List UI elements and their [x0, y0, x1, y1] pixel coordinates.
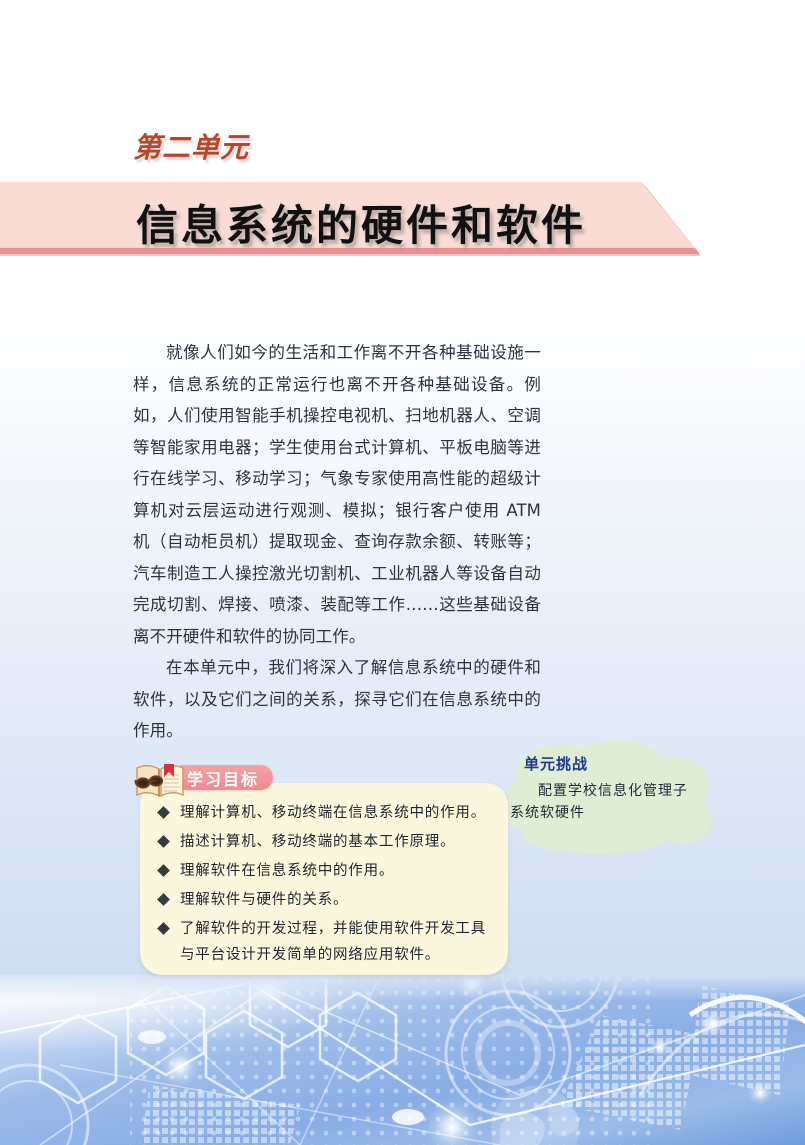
goal-item: 理解软件与硬件的关系。 — [158, 887, 494, 913]
goal-item: 了解软件的开发过程，并能使用软件开发工具与平台设计开发简单的网络应用软件。 — [158, 916, 494, 968]
learning-goals-card: 理解计算机、移动终端在信息系统中的作用。 描述计算机、移动终端的基本工作原理。 … — [140, 783, 508, 975]
unit-challenge-cloud: 单元挑战 配置学校信息化管理子系统软硬件 — [500, 740, 716, 858]
unit-challenge-title: 单元挑战 — [524, 753, 588, 774]
goal-item-label: 了解软件的开发过程，并能使用软件开发工具与平台设计开发简单的网络应用软件。 — [180, 921, 486, 963]
textbook-unit-page: 第二单元 信息系统的硬件和软件 就像人们如今的生活和工作离不开各种基础设施一样，… — [0, 0, 805, 1145]
diamond-bullet-icon — [157, 806, 170, 819]
diamond-bullet-icon — [157, 864, 170, 877]
learning-goals-tab: 学习目标 — [171, 765, 273, 790]
unit-number-label: 第二单元 — [133, 126, 249, 166]
goal-item: 理解软件在信息系统中的作用。 — [158, 858, 494, 884]
unit-title-text: 信息系统的硬件和软件 — [136, 192, 586, 253]
goal-item: 理解计算机、移动终端在信息系统中的作用。 — [158, 800, 494, 826]
diamond-bullet-icon — [157, 835, 170, 848]
learning-goals-list: 理解计算机、移动终端在信息系统中的作用。 描述计算机、移动终端的基本工作原理。 … — [158, 800, 494, 971]
diamond-bullet-icon — [157, 922, 170, 935]
tech-network-decoration — [0, 975, 805, 1145]
intro-body-copy: 就像人们如今的生活和工作离不开各种基础设施一样，信息系统的正常运行也离不开各种基… — [133, 337, 541, 747]
goal-item: 描述计算机、移动终端的基本工作原理。 — [158, 829, 494, 855]
goal-item-label: 描述计算机、移动终端的基本工作原理。 — [180, 834, 455, 850]
goal-item-label: 理解软件在信息系统中的作用。 — [180, 863, 394, 879]
open-book-icon — [134, 759, 186, 799]
goal-item-label: 理解计算机、移动终端在信息系统中的作用。 — [180, 805, 486, 821]
diamond-bullet-icon — [157, 893, 170, 906]
intro-paragraph-2: 在本单元中，我们将深入了解信息系统中的硬件和软件，以及它们之间的关系，探寻它们在… — [133, 652, 541, 747]
learning-goals-tab-label: 学习目标 — [187, 766, 259, 790]
goal-item-label: 理解软件与硬件的关系。 — [180, 892, 348, 908]
unit-challenge-body: 配置学校信息化管理子系统软硬件 — [510, 780, 700, 824]
intro-paragraph-1: 就像人们如今的生活和工作离不开各种基础设施一样，信息系统的正常运行也离不开各种基… — [133, 337, 541, 652]
